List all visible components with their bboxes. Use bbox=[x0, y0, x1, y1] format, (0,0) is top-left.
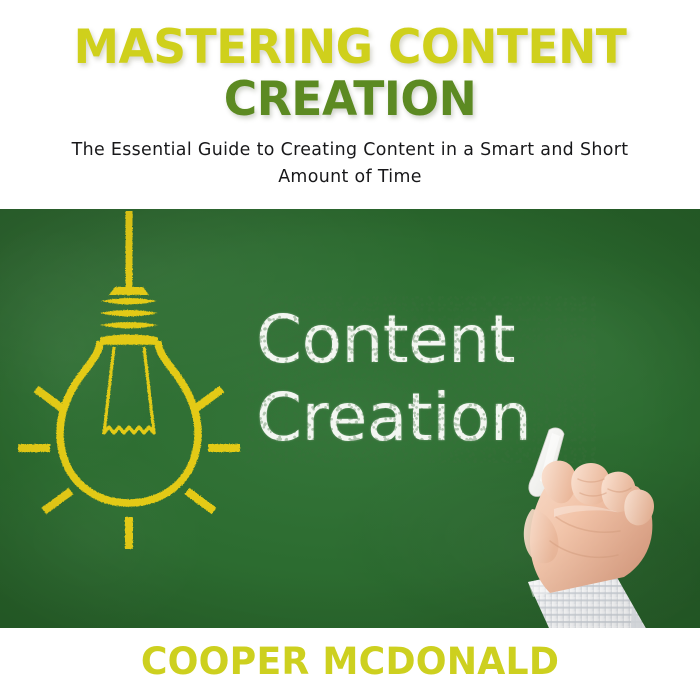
hand-holding-chalk bbox=[492, 417, 700, 628]
chalk-text-line-1: Content bbox=[256, 301, 586, 379]
filament-icon bbox=[104, 427, 154, 433]
lightbulb-icon bbox=[16, 211, 276, 611]
subtitle: The Essential Guide to Creating Content … bbox=[36, 137, 664, 191]
title-line-1: MASTERING CONTENT bbox=[11, 21, 690, 75]
title-line-2: CREATION bbox=[11, 73, 690, 127]
author-name: COOPER MCDONALD bbox=[7, 640, 693, 684]
author-band: COOPER MCDONALD bbox=[0, 628, 700, 700]
book-cover: MASTERING CONTENT CREATION The Essential… bbox=[0, 0, 700, 700]
chalkboard: Content Creation bbox=[0, 209, 700, 628]
lightbulb-strokes bbox=[60, 211, 198, 503]
title-block: MASTERING CONTENT CREATION The Essential… bbox=[0, 0, 700, 210]
light-rays-icon bbox=[18, 389, 240, 549]
